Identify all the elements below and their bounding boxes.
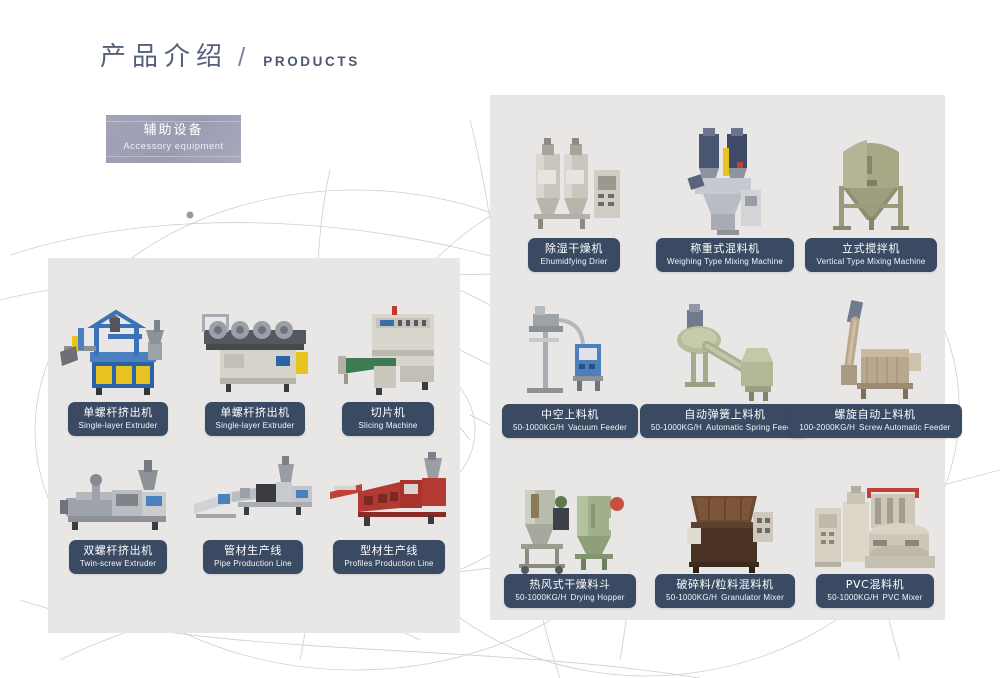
product-name-en: 100-2000KG/HScrew Automatic Feeder [799,422,950,433]
machine-image-twin-screw-extruder [58,452,178,540]
machine-image-pipe-production-line [192,452,314,540]
product-catalog-page: 产品介绍 / PRODUCTS 辅助设备 Accessory equipment [0,0,1000,678]
product-vacuum-feeder[interactable]: 中空上料机 50-1000KG/HVacuum Feeder [505,300,635,438]
category-name-cn: 辅助设备 [143,123,203,140]
product-label[interactable]: 型材生产线 Profiles Production Line [333,540,444,574]
product-name-cn: 单螺杆挤出机 [79,406,158,420]
product-vertical-mixer[interactable]: 立式搅拌机 Vertical Type Mixing Machine [813,122,929,272]
product-name-cn: 热风式干燥料斗 [515,578,624,592]
machine-image-pvc-mixer [805,478,945,574]
product-capacity: 100-2000KG/H [799,423,855,432]
product-label[interactable]: 称重式混料机 Weighing Type Mixing Machine [656,238,794,272]
product-name-cn: 中空上料机 [513,408,627,422]
product-twin-screw-extruder[interactable]: 双螺杆挤出机 Twin-screw Extruder [58,452,178,574]
product-name-en: Single-layer Extruder [216,420,295,431]
category-name-en: Accessory equipment [123,140,223,154]
product-name-cn: 螺旋自动上料机 [799,408,950,422]
machine-image-drying-hopper [505,478,635,574]
product-label[interactable]: 中空上料机 50-1000KG/HVacuum Feeder [502,404,638,438]
product-label[interactable]: 双螺杆挤出机 Twin-screw Extruder [69,540,167,574]
product-name-en: 50-1000KG/HAutomatic Spring Feeder [651,422,799,433]
product-name-cn: PVC混料机 [827,578,922,592]
machine-image-weighing-mixer [665,118,785,238]
product-name-en: Ehumidfying Drier [539,256,609,267]
product-label[interactable]: 单螺杆挤出机 Single-layer Extruder [205,402,306,436]
product-weighing-mixer[interactable]: 称重式混料机 Weighing Type Mixing Machine [665,118,785,272]
machine-image-screw-feeder [805,295,945,404]
page-header: 产品介绍 / PRODUCTS [100,44,360,70]
machine-image-spring-feeder [655,300,795,404]
product-capacity: 50-1000KG/H [827,593,878,602]
product-screw-feeder[interactable]: 螺旋自动上料机 100-2000KG/HScrew Automatic Feed… [805,295,945,438]
product-label[interactable]: PVC混料机 50-1000KG/HPVC Mixer [816,574,933,608]
machine-image-dehumidifying-drier [516,130,632,238]
machine-image-single-screw-extruder [58,300,178,402]
product-name-en: Vertical Type Mixing Machine [816,256,925,267]
product-name-en: Weighing Type Mixing Machine [667,256,783,267]
product-name-en: 50-1000KG/HPVC Mixer [827,592,922,603]
product-name-cn: 型材生产线 [344,544,433,558]
product-profile-production-line[interactable]: 型材生产线 Profiles Production Line [328,452,450,574]
product-single-screw-extruder[interactable]: 单螺杆挤出机 Single-layer Extruder [58,300,178,436]
product-capacity: 50-1000KG/H [515,593,566,602]
product-label[interactable]: 切片机 Slicing Machine [342,402,434,436]
product-capacity: 50-1000KG/H [666,593,717,602]
page-title-en: PRODUCTS [263,55,360,71]
page-title-cn: 产品介绍 [100,44,228,70]
product-name-cn: 自动弹簧上料机 [651,408,799,422]
product-slicing-machine[interactable]: 切片机 Slicing Machine [330,300,446,436]
product-name-cn: 称重式混料机 [667,242,783,256]
product-name-en: Twin-screw Extruder [80,558,156,569]
product-dehumidifying-drier[interactable]: 除湿干燥机 Ehumidfying Drier [516,130,632,272]
product-name-cn: 单螺杆挤出机 [216,406,295,420]
machine-image-granulator-mixer [657,478,793,574]
machine-image-vertical-mixer [813,122,929,238]
product-name-en: Slicing Machine [353,420,423,431]
product-name-cn: 立式搅拌机 [816,242,925,256]
product-label[interactable]: 破碎料/粒料混料机 50-1000KG/HGranulator Mixer [655,574,795,608]
product-name-cn: 除湿干燥机 [539,242,609,256]
product-granulator-mixer[interactable]: 破碎料/粒料混料机 50-1000KG/HGranulator Mixer [657,478,793,608]
machine-image-slicing-machine [330,300,446,402]
product-sheet-extruder-line[interactable]: 单螺杆挤出机 Single-layer Extruder [196,300,314,436]
product-label[interactable]: 螺旋自动上料机 100-2000KG/HScrew Automatic Feed… [788,404,961,438]
machine-image-sheet-extruder-line [196,300,314,402]
category-badge-accessory-equipment[interactable]: 辅助设备 Accessory equipment [106,115,241,163]
machine-image-vacuum-feeder [505,300,635,404]
machine-image-profile-production-line [328,452,450,540]
product-label[interactable]: 立式搅拌机 Vertical Type Mixing Machine [805,238,936,272]
product-name-en: Profiles Production Line [344,558,433,569]
product-label[interactable]: 除湿干燥机 Ehumidfying Drier [528,238,620,272]
product-name-cn: 管材生产线 [214,544,292,558]
product-name-cn: 双螺杆挤出机 [80,544,156,558]
product-name-en: 50-1000KG/HVacuum Feeder [513,422,627,433]
product-name-en: Single-layer Extruder [79,420,158,431]
product-capacity: 50-1000KG/H [513,423,564,432]
title-separator: / [238,44,245,70]
product-label[interactable]: 单螺杆挤出机 Single-layer Extruder [68,402,169,436]
product-name-en: 50-1000KG/HDrying Hopper [515,592,624,603]
product-spring-feeder[interactable]: 自动弹簧上料机 50-1000KG/HAutomatic Spring Feed… [655,300,795,438]
product-name-en: 50-1000KG/HGranulator Mixer [666,592,784,603]
product-pipe-production-line[interactable]: 管材生产线 Pipe Production Line [192,452,314,574]
product-capacity: 50-1000KG/H [651,423,702,432]
product-name-cn: 切片机 [353,406,423,420]
product-label[interactable]: 自动弹簧上料机 50-1000KG/HAutomatic Spring Feed… [640,404,810,438]
product-label[interactable]: 管材生产线 Pipe Production Line [203,540,303,574]
product-label[interactable]: 热风式干燥料斗 50-1000KG/HDrying Hopper [504,574,635,608]
product-pvc-mixer[interactable]: PVC混料机 50-1000KG/HPVC Mixer [805,478,945,608]
product-drying-hopper[interactable]: 热风式干燥料斗 50-1000KG/HDrying Hopper [505,478,635,608]
product-name-cn: 破碎料/粒料混料机 [666,578,784,592]
product-name-en: Pipe Production Line [214,558,292,569]
